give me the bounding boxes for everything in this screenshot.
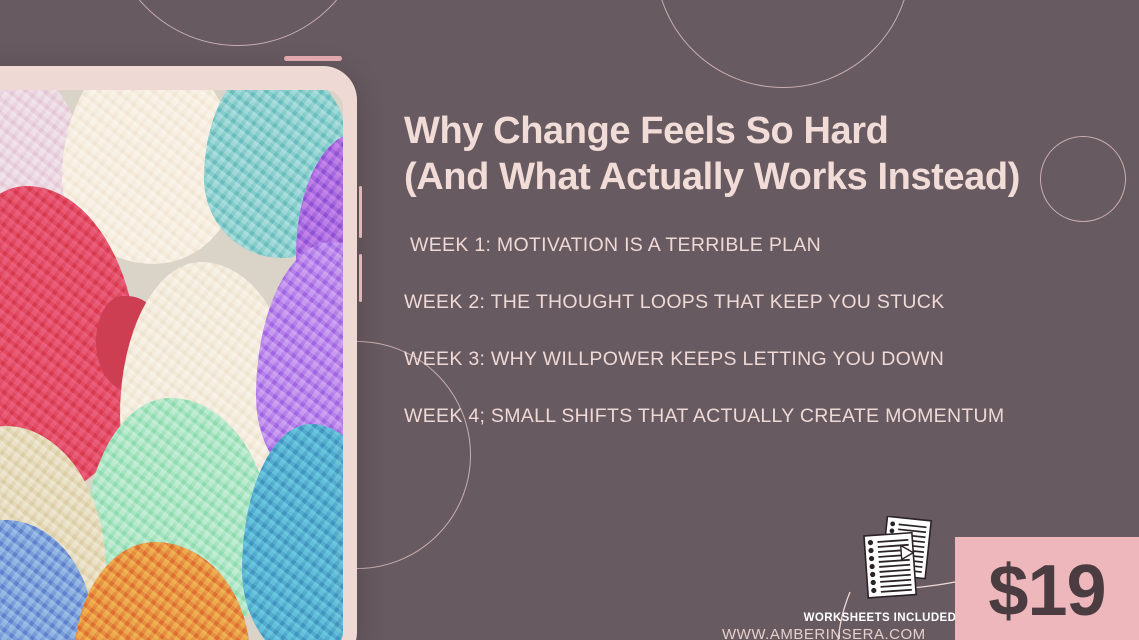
- paper-heads-collage-image: [0, 90, 343, 640]
- tablet-speaker-grille: [284, 56, 342, 61]
- price-badge: $19: [955, 537, 1139, 640]
- tablet-mockup: [0, 66, 357, 640]
- week-list: WEEK 1: MOTIVATION IS A TERRIBLE PLAN WE…: [404, 234, 1104, 427]
- worksheets-badge: WORKSHEETS INCLUDED: [800, 516, 960, 636]
- volume-down-button[interactable]: [359, 254, 362, 302]
- list-item-week-4: WEEK 4; SMALL SHIFTS THAT ACTUALLY CREAT…: [404, 405, 1104, 427]
- decorative-circle-top: [655, 0, 911, 88]
- price-amount: $19: [988, 555, 1105, 627]
- promo-slide: Why Change Feels So Hard (And What Actua…: [0, 0, 1139, 640]
- list-item-week-3: WEEK 3: WHY WILLPOWER KEEPS LETTING YOU …: [404, 348, 1104, 370]
- volume-up-button[interactable]: [359, 186, 362, 238]
- worksheets-caption: WORKSHEETS INCLUDED: [800, 612, 960, 624]
- decorative-circle-left: [108, 0, 368, 46]
- headline-line-2: (And What Actually Works Instead): [404, 154, 1064, 200]
- tablet-screen: [0, 90, 343, 640]
- headline-line-1: Why Change Feels So Hard: [404, 108, 1064, 154]
- notepad-pages-icon: [862, 516, 934, 602]
- site-url: WWW.AMBERINSERA.COM: [722, 626, 926, 640]
- list-item-week-1: WEEK 1: MOTIVATION IS A TERRIBLE PLAN: [404, 234, 1104, 256]
- list-item-week-2: WEEK 2: THE THOUGHT LOOPS THAT KEEP YOU …: [404, 291, 1104, 313]
- page-title: Why Change Feels So Hard (And What Actua…: [404, 108, 1064, 200]
